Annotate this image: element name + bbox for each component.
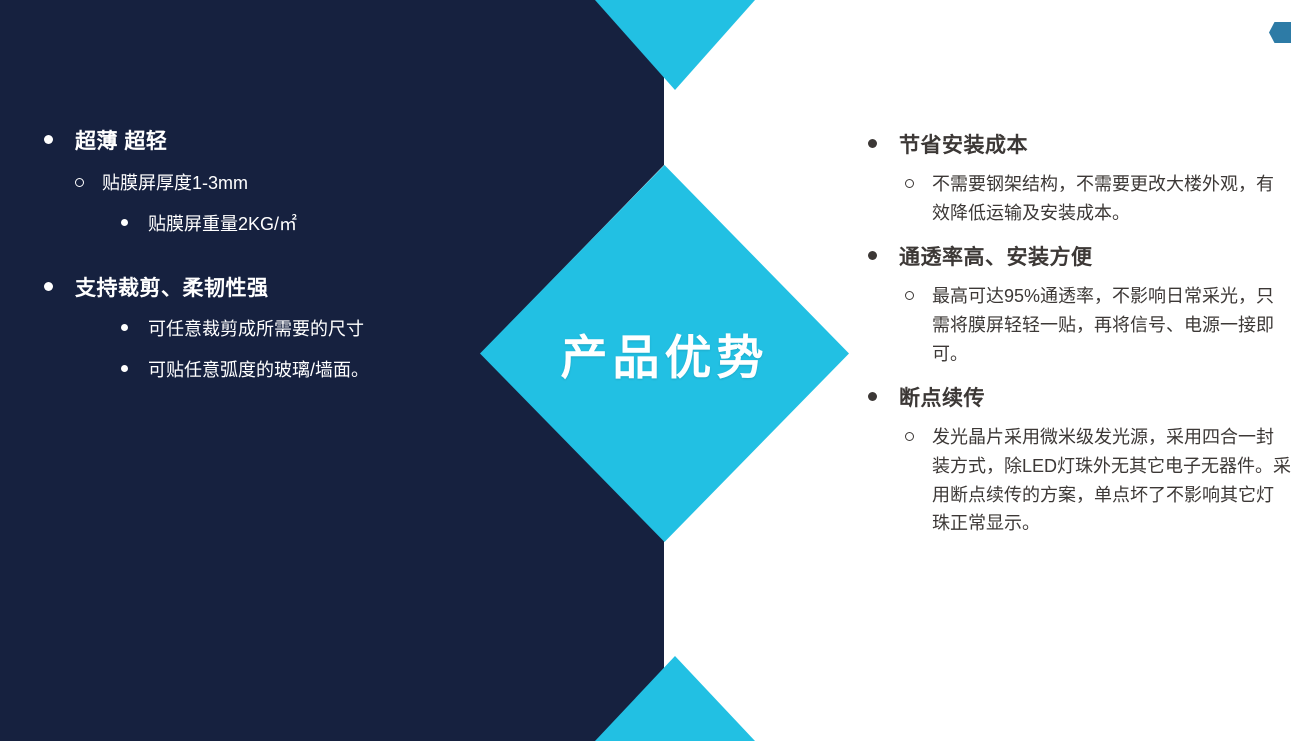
list-item-label: 可任意裁剪成所需要的尺寸 [148, 315, 364, 344]
topic-title: 断点续传 [899, 385, 985, 413]
topic-group: 支持裁剪、柔韧性强 可任意裁剪成所需要的尺寸 可贴任意弧度的玻璃/墙面。 [44, 275, 470, 385]
topic-title: 节省安装成本 [899, 132, 1028, 160]
left-content-column: 超薄 超轻 贴膜屏厚度1-3mm 贴膜屏重量2KG/㎡ 支持裁剪、柔韧性强 可任… [0, 128, 470, 421]
bullet-filled-icon [868, 139, 877, 148]
topic-group: 通透率高、安装方便 最高可达95%通透率，不影响日常采光，只需将膜屏轻轻一贴，再… [868, 244, 1291, 369]
right-content-column: 节省安装成本 不需要钢架结构，不需要更改大楼外观，有效降低运输及安装成本。 通透… [858, 132, 1291, 554]
list-item-label: 贴膜屏重量2KG/㎡ [148, 210, 297, 239]
center-diamond-badge: 产品优势 [480, 165, 849, 542]
list-item-label: 贴膜屏厚度1-3mm [102, 169, 248, 198]
list-item: 贴膜屏重量2KG/㎡ [121, 210, 470, 239]
topic-group: 节省安装成本 不需要钢架结构，不需要更改大楼外观，有效降低运输及安装成本。 [868, 132, 1291, 228]
bullet-hollow-icon [905, 291, 914, 300]
topic-title: 通透率高、安装方便 [899, 244, 1093, 272]
topic-title: 超薄 超轻 [75, 128, 167, 156]
list-item-label: 可贴任意弧度的玻璃/墙面。 [148, 356, 369, 385]
bullet-filled-icon [44, 135, 53, 144]
bullet-dot-icon [121, 324, 128, 331]
bullet-hollow-icon [905, 179, 914, 188]
list-item-label: 最高可达95%通透率，不影响日常采光，只需将膜屏轻轻一贴，再将信号、电源一接即可… [932, 282, 1291, 368]
slide-canvas: 产品优势 超薄 超轻 贴膜屏厚度1-3mm 贴膜屏重量2KG/㎡ 支持裁剪、柔韧… [0, 0, 1291, 741]
list-item-label: 发光晶片采用微米级发光源，采用四合一封装方式，除LED灯珠外无其它电子无器件。采… [932, 423, 1291, 538]
topic-group: 断点续传 发光晶片采用微米级发光源，采用四合一封装方式，除LED灯珠外无其它电子… [868, 385, 1291, 539]
topic-heading: 断点续传 [868, 385, 1291, 413]
topic-heading: 超薄 超轻 [44, 128, 470, 156]
bullet-filled-icon [868, 392, 877, 401]
bullet-filled-icon [44, 282, 53, 291]
topic-title: 支持裁剪、柔韧性强 [75, 275, 269, 303]
bottom-cyan-triangle-icon [595, 656, 755, 741]
bullet-dot-icon [121, 365, 128, 372]
list-item: 发光晶片采用微米级发光源，采用四合一封装方式，除LED灯珠外无其它电子无器件。采… [905, 423, 1291, 538]
top-cyan-triangle-icon [595, 0, 755, 90]
page-title: 产品优势 [561, 319, 769, 388]
list-item: 不需要钢架结构，不需要更改大楼外观，有效降低运输及安装成本。 [905, 170, 1291, 228]
topic-heading: 通透率高、安装方便 [868, 244, 1291, 272]
list-item: 可贴任意弧度的玻璃/墙面。 [121, 356, 470, 385]
bullet-dot-icon [121, 219, 128, 226]
topic-group: 超薄 超轻 贴膜屏厚度1-3mm 贴膜屏重量2KG/㎡ [44, 128, 470, 239]
list-item: 贴膜屏厚度1-3mm [75, 169, 470, 198]
topic-heading: 节省安装成本 [868, 132, 1291, 160]
list-item-label: 不需要钢架结构，不需要更改大楼外观，有效降低运输及安装成本。 [932, 170, 1291, 228]
bullet-hollow-icon [75, 178, 84, 187]
topic-heading: 支持裁剪、柔韧性强 [44, 275, 470, 303]
bullet-filled-icon [868, 251, 877, 260]
hexagon-icon [1269, 22, 1291, 43]
list-item: 最高可达95%通透率，不影响日常采光，只需将膜屏轻轻一贴，再将信号、电源一接即可… [905, 282, 1291, 368]
list-item: 可任意裁剪成所需要的尺寸 [121, 315, 470, 344]
bullet-hollow-icon [905, 432, 914, 441]
